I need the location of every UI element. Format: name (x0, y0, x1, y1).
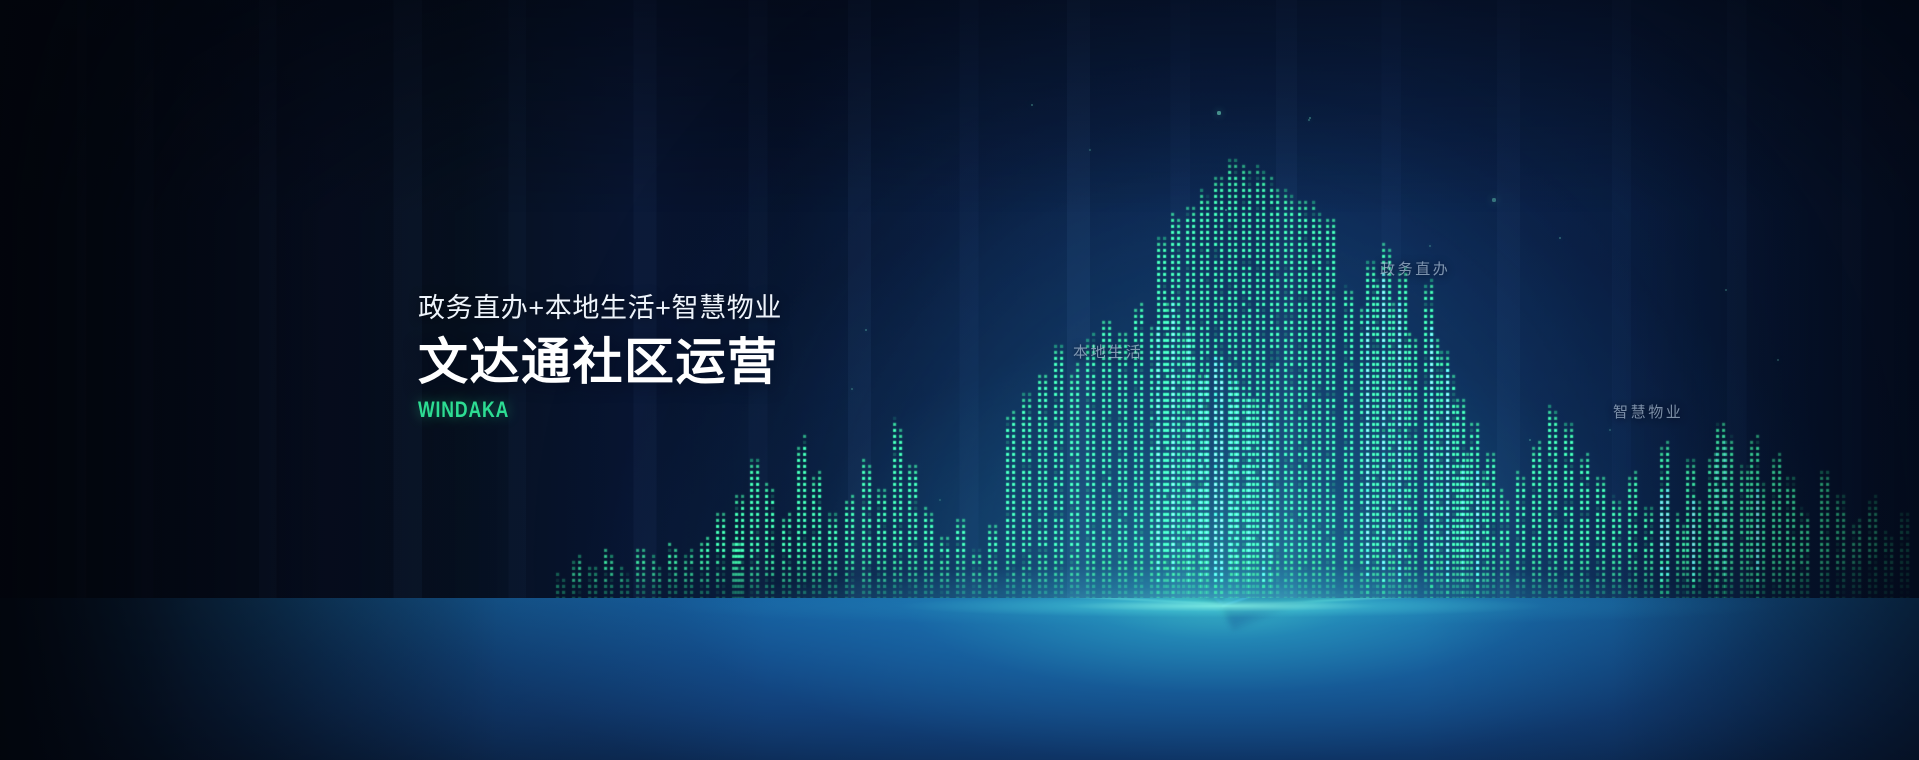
ground-right-shadow (0, 598, 1919, 760)
tag-local-life: 本地生活 (1073, 341, 1143, 362)
hero-subtitle: 政务直办+本地生活+智慧物业 (418, 292, 782, 325)
brand-wordmark: WINDAKA (418, 397, 709, 423)
tag-smart-property: 智慧物业 (1613, 401, 1683, 422)
perspective-ground (0, 598, 1919, 760)
hero-banner: 政务直办+本地生活+智慧物业 文达通社区运营 WINDAKA 政务直办 本地生活… (0, 0, 1919, 760)
hero-text-block: 政务直办+本地生活+智慧物业 文达通社区运营 WINDAKA (418, 292, 782, 423)
tag-government-services: 政务直办 (1380, 258, 1450, 279)
hero-headline: 文达通社区运营 (418, 334, 782, 390)
